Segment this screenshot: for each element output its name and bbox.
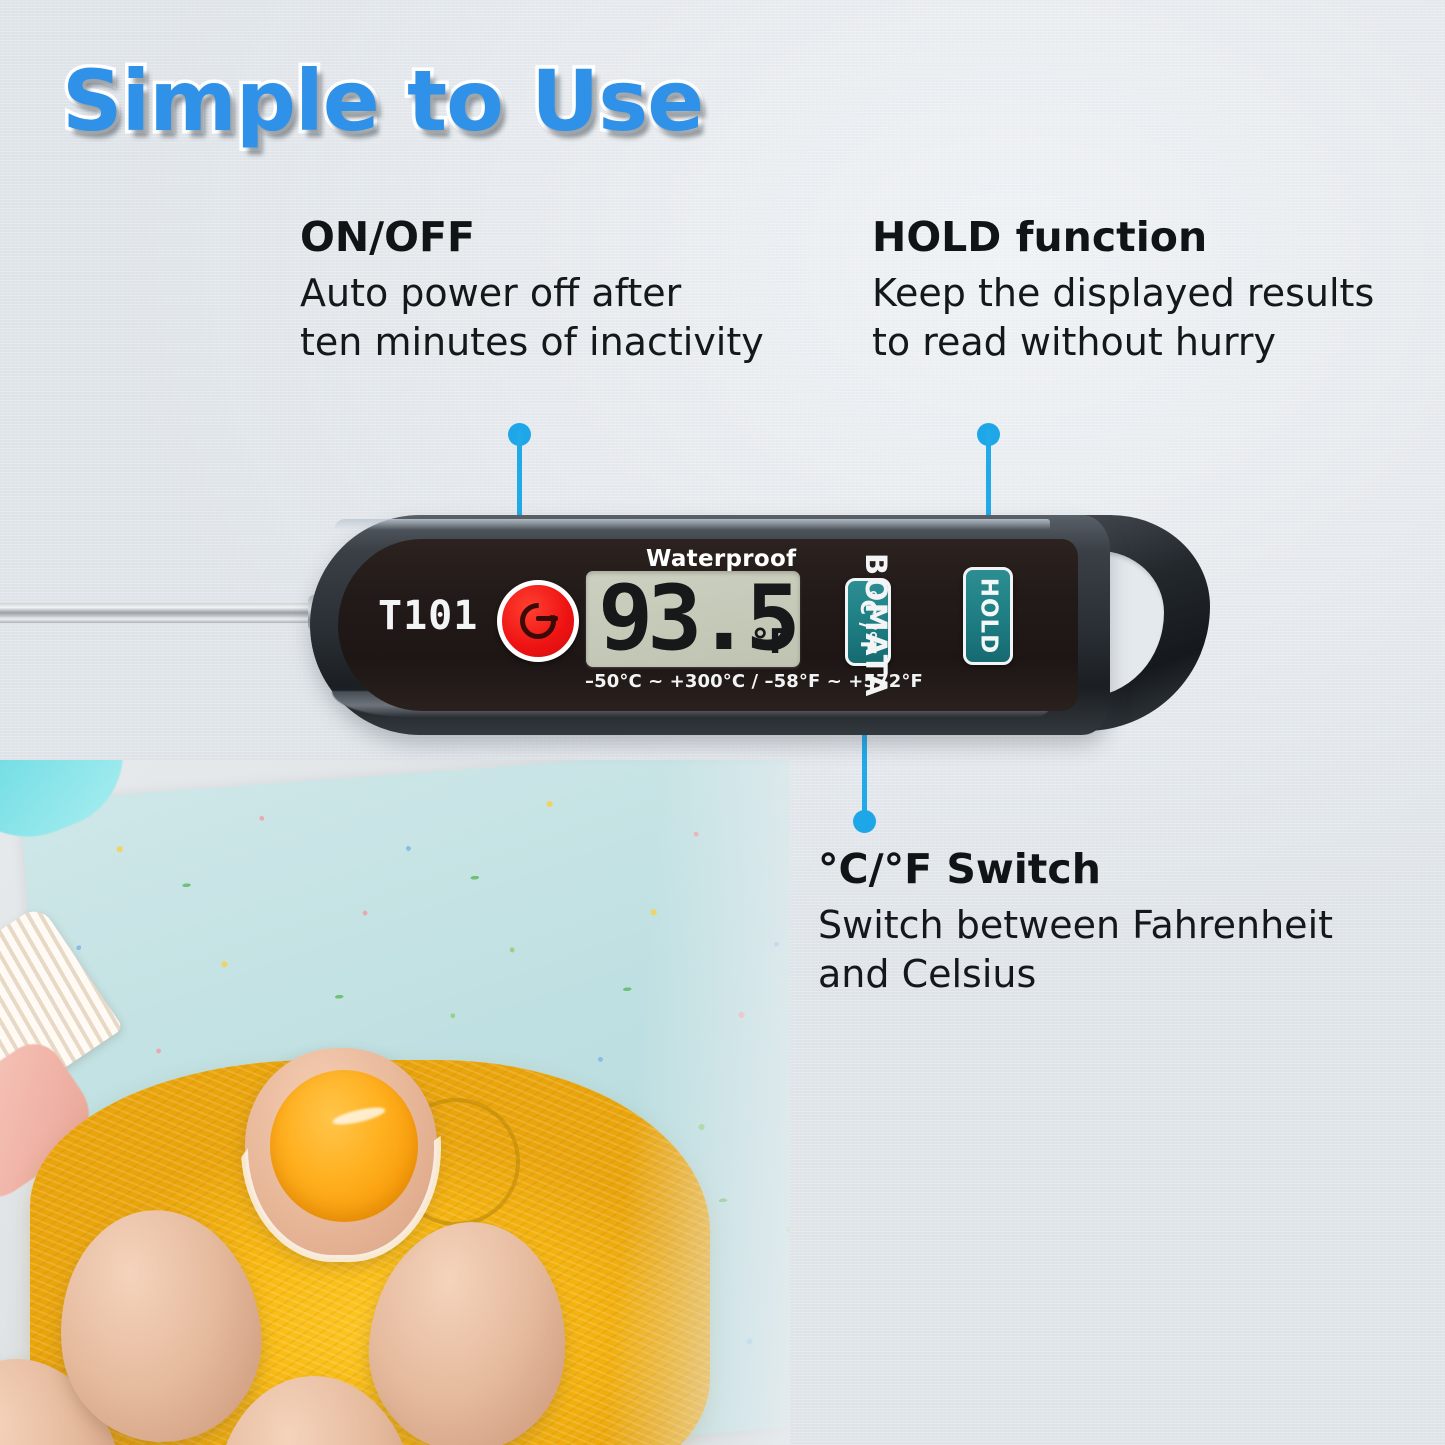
callout-hold: HOLD function Keep the displayed results… bbox=[872, 216, 1374, 366]
metal-probe bbox=[0, 603, 330, 623]
model-label: T101 bbox=[378, 593, 478, 639]
callout-cf-line2: and Celsius bbox=[818, 950, 1333, 999]
callout-cf-body: Switch between Fahrenheit and Celsius bbox=[818, 901, 1333, 998]
hold-button[interactable]: HOLD bbox=[963, 567, 1013, 665]
infographic-canvas: Simple to Use ON/OFF Auto power off afte… bbox=[0, 0, 1445, 1445]
power-button[interactable] bbox=[497, 580, 579, 662]
callout-onoff-line2: ten minutes of inactivity bbox=[300, 318, 764, 367]
hold-button-label: HOLD bbox=[975, 578, 1001, 655]
brand-label: BOMATA bbox=[859, 553, 893, 698]
callout-onoff: ON/OFF Auto power off after ten minutes … bbox=[300, 216, 764, 366]
callout-hold-title: HOLD function bbox=[872, 216, 1374, 259]
callout-cf-switch: °C/°F Switch Switch between Fahrenheit a… bbox=[818, 848, 1333, 998]
kitchen-photo bbox=[0, 760, 790, 1445]
page-title: Simple to Use bbox=[62, 52, 703, 150]
lcd-display: 93.5 °F bbox=[586, 571, 800, 667]
lcd-unit-label: °F bbox=[752, 625, 792, 659]
power-icon-ring bbox=[520, 603, 556, 639]
callout-onoff-title: ON/OFF bbox=[300, 216, 764, 259]
callout-hold-line2: to read without hurry bbox=[872, 318, 1374, 367]
power-icon-bar bbox=[536, 616, 558, 621]
callout-hold-body: Keep the displayed results to read witho… bbox=[872, 269, 1374, 366]
callout-onoff-line1: Auto power off after bbox=[300, 269, 764, 318]
leader-dot-cf bbox=[853, 810, 876, 833]
callout-cf-line1: Switch between Fahrenheit bbox=[818, 901, 1333, 950]
egg-yolk bbox=[270, 1070, 418, 1222]
waterproof-label: Waterproof bbox=[646, 546, 796, 572]
callout-hold-line1: Keep the displayed results bbox=[872, 269, 1374, 318]
callout-onoff-body: Auto power off after ten minutes of inac… bbox=[300, 269, 764, 366]
power-icon bbox=[520, 603, 556, 639]
callout-cf-title: °C/°F Switch bbox=[818, 848, 1333, 891]
